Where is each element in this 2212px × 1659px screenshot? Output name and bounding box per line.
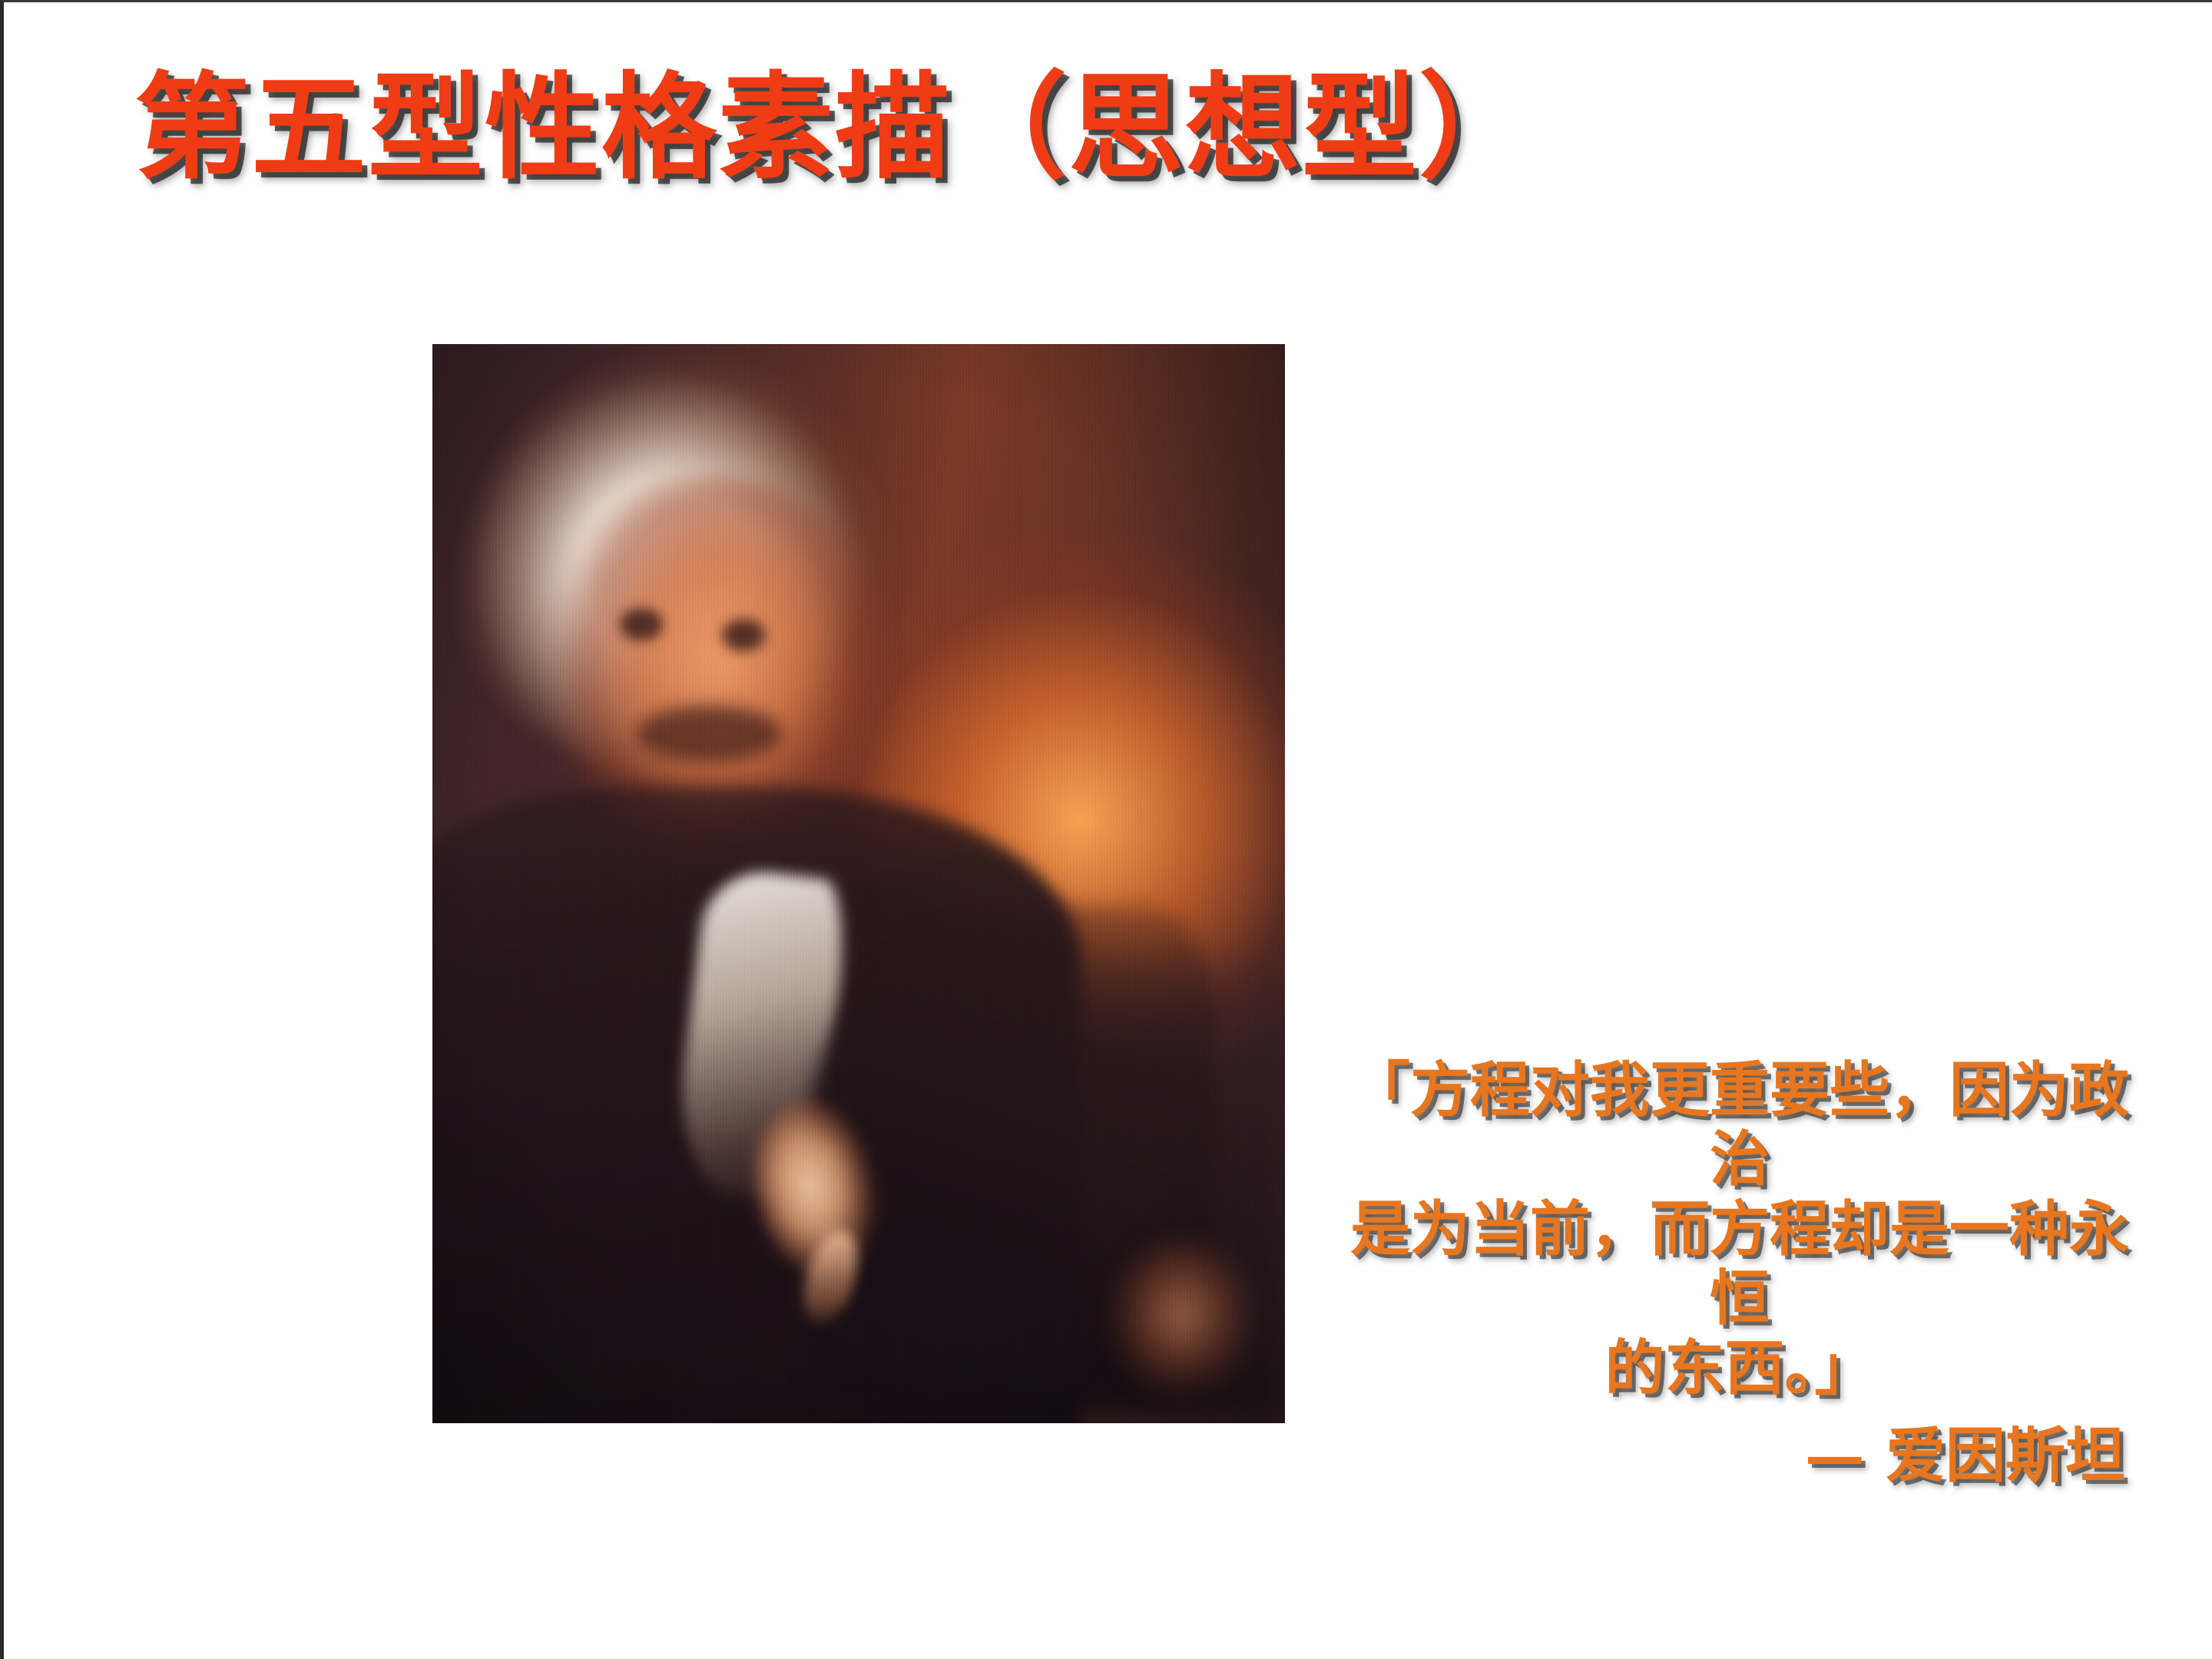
quote-block: 「方程对我更重要些，因为政治 是为当前，而方程却是一种永恒 的东西。」 — 爱因… [1325, 1056, 2154, 1489]
quote-attribution: — 爱因斯坦 [1325, 1423, 2154, 1489]
einstein-portrait-image [432, 344, 1285, 1423]
slide-canvas: 第五型性格素描（思想型） 「方程对我更重要些，因为政治 是为当前，而方程却是一种… [0, 0, 2212, 1659]
portrait-vignette [432, 344, 1285, 1423]
quote-text: 「方程对我更重要些，因为政治 是为当前，而方程却是一种永恒 的东西。」 [1325, 1056, 2154, 1403]
page-title: 第五型性格素描（思想型） [134, 62, 1535, 195]
